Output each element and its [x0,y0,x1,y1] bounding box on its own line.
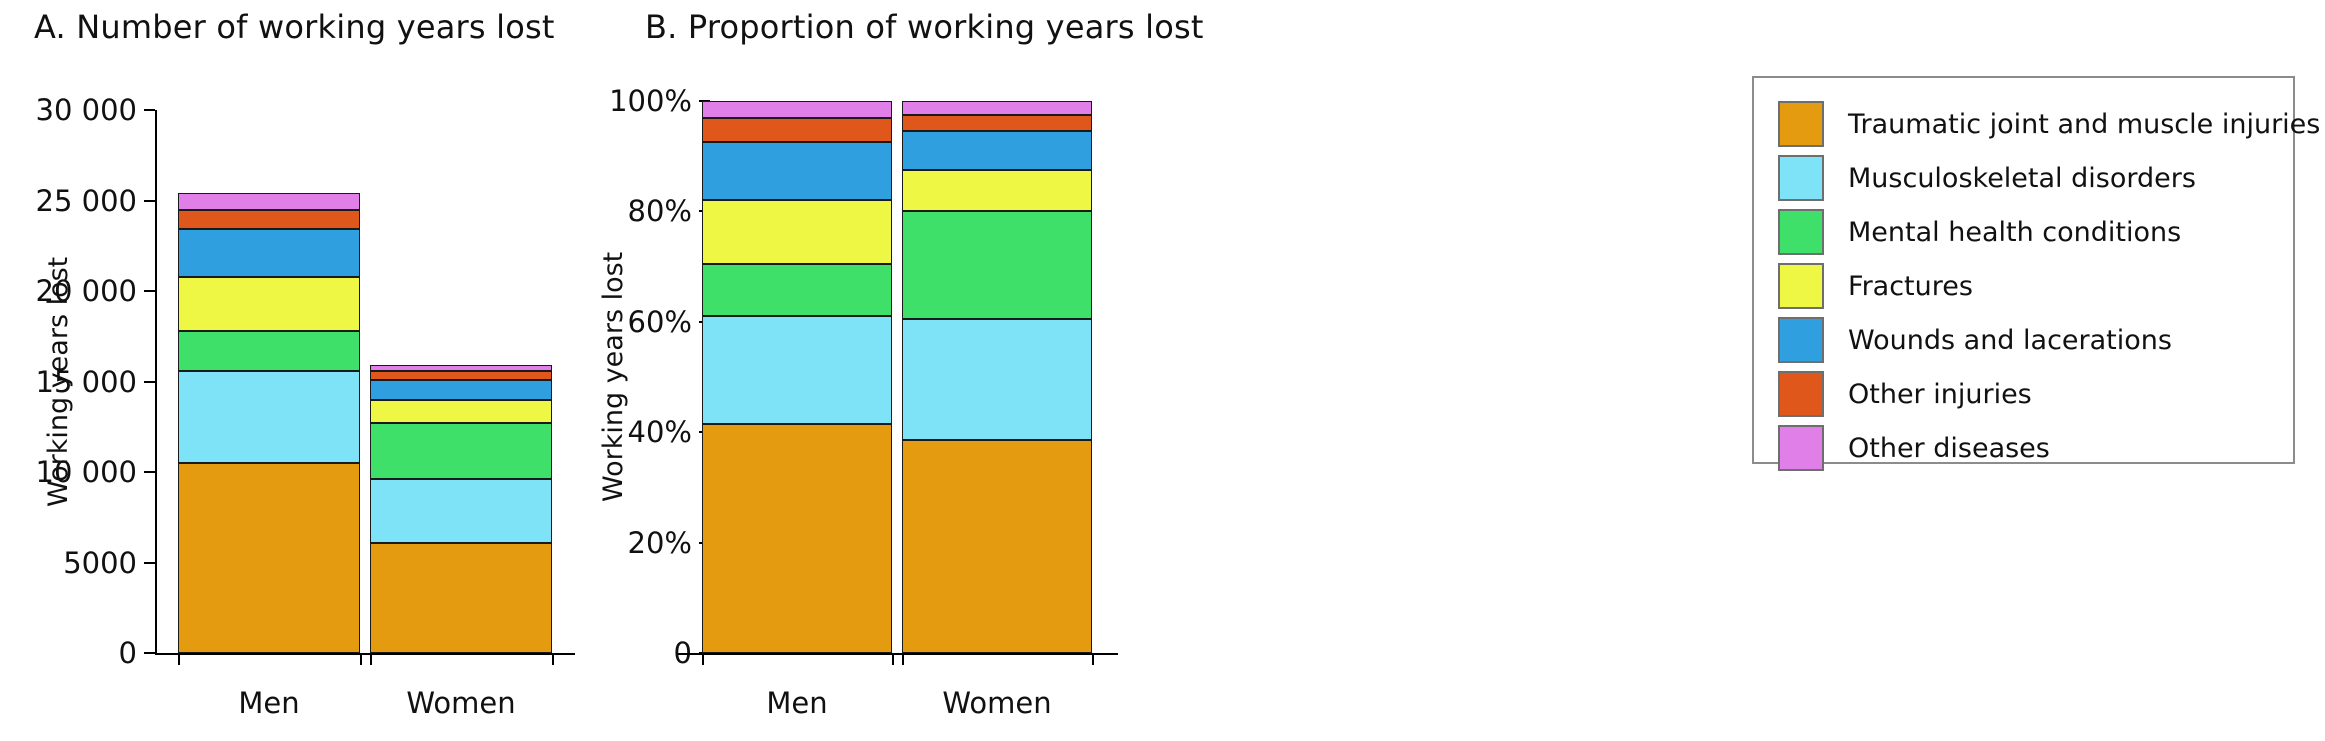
b-y-tick-label: 100% [609,84,692,118]
a-segment-men-2[interactable] [178,331,360,371]
legend-swatch-traumatic-icon [1778,101,1824,147]
a-segment-women-3[interactable] [370,400,552,424]
b-category-label: Women [942,686,1051,720]
figure-root: A. Number of working years lost B. Propo… [0,0,2325,741]
a-y-tick-label: 10 000 [36,455,137,489]
b-bar-women[interactable] [902,101,1092,653]
a-segment-women-5[interactable] [370,371,552,380]
a-y-tick-label: 5000 [63,546,137,580]
b-segment-women-6[interactable] [902,101,1092,115]
panel-b-plot: Working years lost020%40%60%80%100%MenWo… [620,0,1240,741]
a-y-tick [144,652,155,654]
legend-label: Musculoskeletal disorders [1848,163,2196,194]
legend-label: Traumatic joint and muscle injuries [1848,109,2320,140]
a-y-tick-label: 15 000 [36,365,137,399]
a-y-tick-label: 25 000 [36,184,137,218]
a-segment-women-4[interactable] [370,380,552,400]
a-segment-men-6[interactable] [178,193,360,209]
b-segment-men-4[interactable] [702,142,892,200]
a-segment-women-0[interactable] [370,543,552,653]
b-segment-men-0[interactable] [702,424,892,653]
legend-item-fractures[interactable]: Fractures [1778,259,2283,313]
legend-label: Mental health conditions [1848,217,2181,248]
legend-swatch-other_injuries-icon [1778,371,1824,417]
b-segment-men-3[interactable] [702,200,892,263]
b-y-tick-label: 60% [628,305,692,339]
b-segment-men-5[interactable] [702,118,892,143]
legend-swatch-musculoskeletal-icon [1778,155,1824,201]
b-x-axis-spine [678,653,1118,655]
a-x-tick [370,654,372,665]
b-segment-men-6[interactable] [702,101,892,118]
panel-a-plot: Working years lost0500010 00015 00020 00… [0,0,620,741]
b-y-axis-label: Working years lost [598,101,629,653]
b-segment-men-2[interactable] [702,264,892,316]
legend-swatch-fractures-icon [1778,263,1824,309]
legend-swatch-other_diseases-icon [1778,425,1824,471]
a-segment-men-1[interactable] [178,371,360,463]
b-x-tick [892,654,894,665]
a-segment-women-6[interactable] [370,365,552,370]
a-y-tick [144,562,155,564]
a-y-tick-label: 20 000 [36,274,137,308]
a-x-tick [552,654,554,665]
a-y-tick [144,109,155,111]
legend-item-wounds[interactable]: Wounds and lacerations [1778,313,2283,367]
a-segment-men-4[interactable] [178,229,360,276]
legend-label: Wounds and lacerations [1848,325,2172,356]
legend-label: Fractures [1848,271,1973,302]
b-category-label: Men [766,686,827,720]
a-category-label: Women [406,686,515,720]
a-category-label: Men [238,686,299,720]
b-segment-men-1[interactable] [702,316,892,424]
a-y-tick [144,200,155,202]
legend-box: Traumatic joint and muscle injuriesMuscu… [1752,76,2295,464]
legend-label: Other diseases [1848,433,2050,464]
a-segment-men-5[interactable] [178,210,360,230]
legend-item-traumatic[interactable]: Traumatic joint and muscle injuries [1778,97,2283,151]
b-x-tick [1092,654,1094,665]
a-y-tick [144,290,155,292]
a-y-tick-label: 0 [119,636,137,670]
b-bar-men[interactable] [702,101,892,653]
b-x-tick [702,654,704,665]
legend-label: Other injuries [1848,379,2032,410]
a-y-tick [144,381,155,383]
a-y-tick [144,471,155,473]
legend-item-mental[interactable]: Mental health conditions [1778,205,2283,259]
a-x-tick [360,654,362,665]
b-y-tick-label: 40% [628,415,692,449]
b-segment-women-4[interactable] [902,131,1092,170]
a-y-axis-spine [155,110,157,655]
b-segment-women-0[interactable] [902,440,1092,653]
a-bar-women[interactable] [370,110,552,653]
legend-swatch-wounds-icon [1778,317,1824,363]
a-y-tick-label: 30 000 [36,93,137,127]
b-segment-women-3[interactable] [902,170,1092,211]
b-segment-women-1[interactable] [902,319,1092,440]
b-segment-women-2[interactable] [902,211,1092,319]
b-segment-women-5[interactable] [902,115,1092,132]
b-y-tick-label: 20% [628,526,692,560]
legend-item-other_diseases[interactable]: Other diseases [1778,421,2283,475]
legend-swatch-mental-icon [1778,209,1824,255]
legend-list: Traumatic joint and muscle injuriesMuscu… [1778,97,2283,475]
b-x-tick [902,654,904,665]
a-x-axis-spine [155,653,575,655]
a-segment-women-1[interactable] [370,479,552,542]
legend-item-other_injuries[interactable]: Other injuries [1778,367,2283,421]
a-bar-men[interactable] [178,110,360,653]
a-x-tick [178,654,180,665]
legend-item-musculoskeletal[interactable]: Musculoskeletal disorders [1778,151,2283,205]
a-segment-men-0[interactable] [178,463,360,653]
a-segment-women-2[interactable] [370,423,552,479]
b-y-tick-label: 80% [628,194,692,228]
a-segment-men-3[interactable] [178,277,360,331]
